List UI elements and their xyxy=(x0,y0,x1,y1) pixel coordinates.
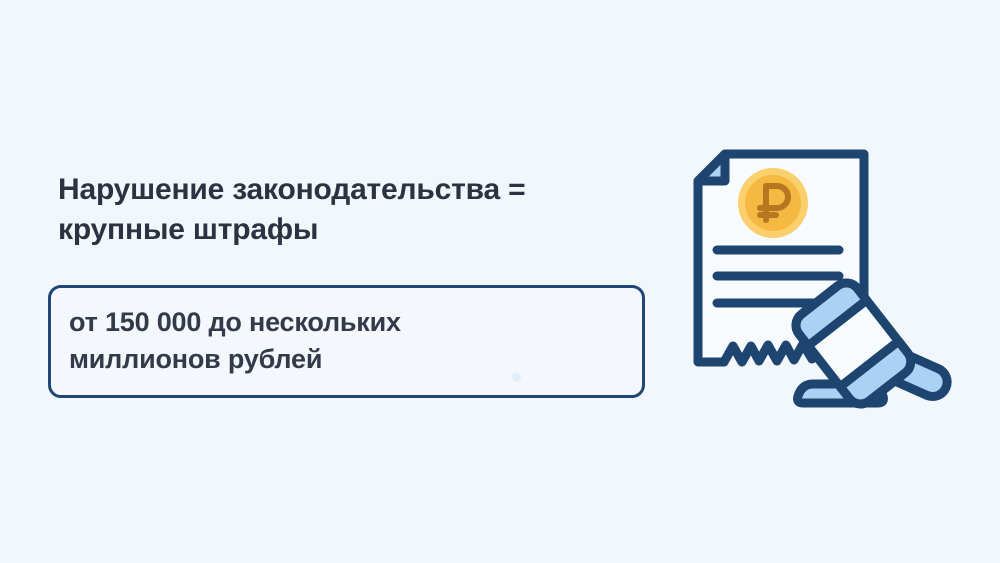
slide-canvas: Нарушение законодательства = крупные штр… xyxy=(0,0,1000,563)
page-title: Нарушение законодательства = крупные штр… xyxy=(58,170,658,249)
background-speck xyxy=(512,372,521,382)
document-with-gavel-illustration xyxy=(676,128,976,424)
callout-box: от 150 000 до нескольких миллионов рубле… xyxy=(48,285,645,398)
text-column: Нарушение законодательства = крупные штр… xyxy=(58,170,658,249)
ruble-coin-icon xyxy=(738,168,808,238)
folded-corner-icon xyxy=(698,154,725,181)
callout-text: от 150 000 до нескольких миллионов рубле… xyxy=(69,304,630,379)
